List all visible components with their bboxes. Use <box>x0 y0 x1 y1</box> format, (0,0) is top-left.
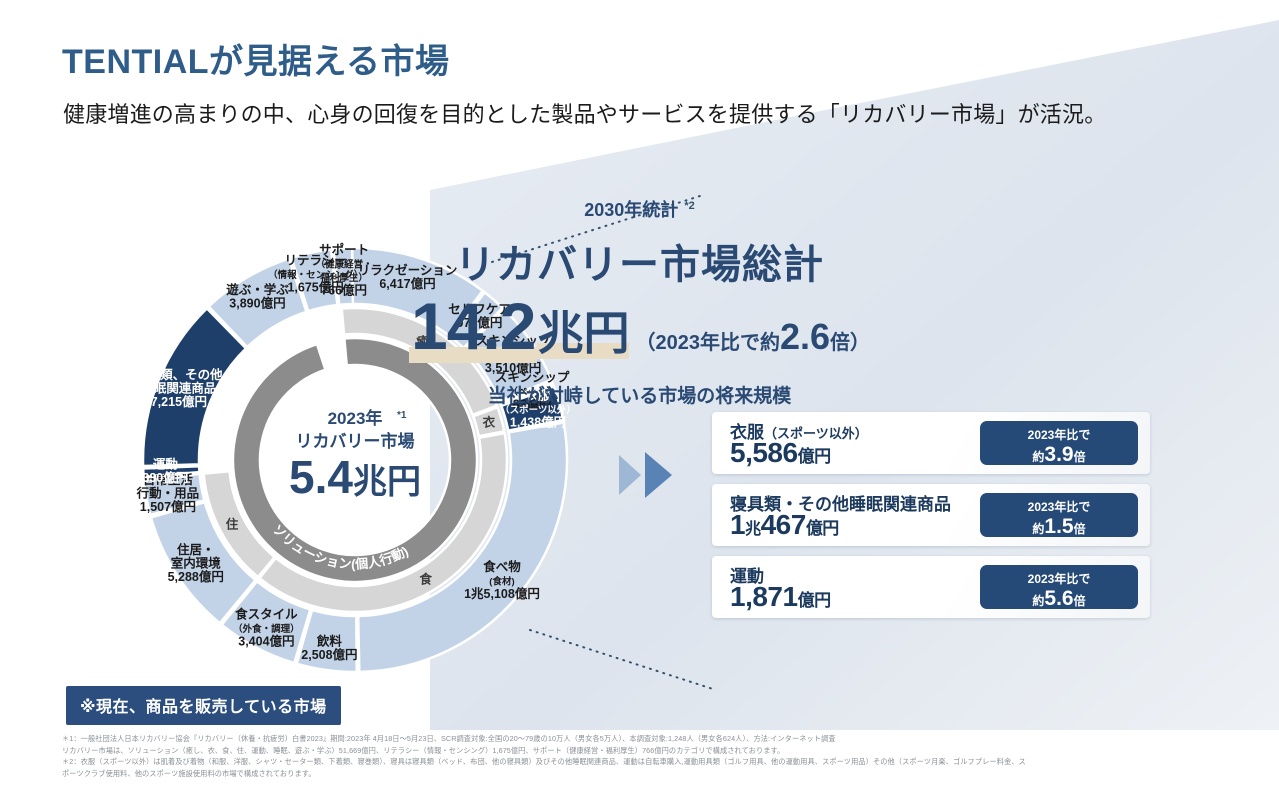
slide-root: TENTIALが見据える市場 健康増進の高まりの中、心身の回復を目的とした製品や… <box>0 0 1279 796</box>
svg-text:住居・: 住居・ <box>177 542 215 557</box>
svg-text:1,507億円: 1,507億円 <box>140 499 196 514</box>
footnote-line-3: ＊2：衣服（スポーツ以外）は肌着及び着物（和服、洋服、シャツ・セーター類、下着類… <box>62 756 1222 768</box>
card-value: 1,871億円 <box>730 582 831 613</box>
mid-ring-label-食: 食 <box>419 572 433 587</box>
comparison-prefix: （2023年比で約 <box>635 332 780 354</box>
donut-center-label: リカバリー市場 <box>296 431 415 451</box>
mid-ring-label-衣: 衣 <box>483 415 496 430</box>
market-size-card[interactable]: 運動1,871億円2023年比で約5.6倍 <box>712 556 1150 618</box>
svg-text:(食材): (食材) <box>489 575 514 587</box>
stat-year-label: 2030年統計*2 <box>0 196 1279 222</box>
page-title: TENTIALが見据える市場 <box>62 34 450 83</box>
card-growth-badge: 2023年比で約1.5倍 <box>980 493 1138 537</box>
target-market-subheading: 当社が対峙している市場の将来規模 <box>0 381 1279 408</box>
comparison-unit: 倍 <box>830 332 850 354</box>
footnotes: ＊1：一般社団法人日本リカバリー協会『リカバリー（休養・抗疲労）白書2023』期… <box>62 733 1222 780</box>
stat-year-footnote-ref: *2 <box>684 200 694 212</box>
mid-ring-label-住: 住 <box>226 517 239 532</box>
card-growth-badge: 2023年比で約3.9倍 <box>980 421 1138 465</box>
comparison-number: 2.6 <box>780 316 830 357</box>
svg-text:室内環境: 室内環境 <box>171 556 222 571</box>
badge-baseline-label: 2023年比で <box>980 498 1138 515</box>
card-value-unit: 億円 <box>806 519 839 538</box>
market-total-value-row: 14.2兆円（2023年比で約2.6倍） <box>0 288 1279 364</box>
svg-text:5,288億円: 5,288億円 <box>168 569 224 584</box>
svg-text:食べ物: 食べ物 <box>482 559 521 574</box>
legend-badge: ※現在、商品を販売している市場 <box>66 686 341 725</box>
svg-text:寝具類、その他: 寝具類、その他 <box>135 367 223 382</box>
card-value: 1兆467億円 <box>730 510 839 541</box>
badge-baseline-label: 2023年比で <box>980 426 1138 443</box>
badge-multiplier: 約3.9倍 <box>980 443 1138 467</box>
card-value-unit: 億円 <box>798 591 831 610</box>
svg-text:3,404億円: 3,404億円 <box>238 634 294 649</box>
svg-text:330億円: 330億円 <box>142 470 188 485</box>
market-total-unit: 兆円 <box>537 307 629 359</box>
card-value-unit: 億円 <box>798 447 831 466</box>
donut-center-year: 2023年 <box>328 408 383 428</box>
svg-text:飲料: 飲料 <box>316 634 343 649</box>
comparison-suffix: ） <box>850 332 870 354</box>
svg-text:食スタイル: 食スタイル <box>234 607 298 622</box>
market-total-heading: リカバリー市場総計 <box>0 232 1279 290</box>
footnote-line-2: リカバリー市場は、ソリューション（癒し、衣、食、住、運動、睡眠、遊ぶ・学ぶ）51… <box>62 745 1222 757</box>
market-size-card[interactable]: 寝具類・その他睡眠関連商品1兆467億円2023年比で約1.5倍 <box>712 484 1150 546</box>
market-total-comparison: （2023年比で約2.6倍） <box>635 328 870 355</box>
card-growth-badge: 2023年比で約5.6倍 <box>980 565 1138 609</box>
badge-multiplier: 約5.6倍 <box>980 587 1138 611</box>
market-size-card[interactable]: 衣服（スポーツ以外）5,586億円2023年比で約3.9倍 <box>712 412 1150 474</box>
market-size-card-list: 衣服（スポーツ以外）5,586億円2023年比で約3.9倍寝具類・その他睡眠関連… <box>712 412 1150 628</box>
inner-ring-solution <box>233 338 477 582</box>
badge-multiplier: 約1.5倍 <box>980 515 1138 539</box>
badge-baseline-label: 2023年比で <box>980 570 1138 587</box>
footnote-line-4: ポーツクラブ使用料、他のスポーツ施設使用料の市場で構成されております。 <box>62 768 1222 780</box>
market-total-number: 14.2 <box>409 289 537 363</box>
donut-center-value: 5.4兆円 <box>289 451 421 503</box>
donut-center-footnote-ref: *1 <box>397 410 407 421</box>
svg-text:運動: 運動 <box>153 456 178 471</box>
svg-text:1兆5,108億円: 1兆5,108億円 <box>464 586 540 601</box>
stat-year-text: 2030年統計 <box>584 200 678 220</box>
donut-segment-label: 食スタイル（外食・調理）3,404億円 <box>233 607 300 649</box>
svg-text:2,508億円: 2,508億円 <box>301 647 357 662</box>
page-subtitle: 健康増進の高まりの中、心身の回復を目的とした製品やサービスを提供する「リカバリー… <box>63 97 1106 129</box>
card-value: 5,586億円 <box>730 438 831 469</box>
svg-text:行動・用品: 行動・用品 <box>136 485 200 500</box>
svg-text:1,438億円: 1,438億円 <box>510 414 566 429</box>
footnote-line-1: ＊1：一般社団法人日本リカバリー協会『リカバリー（休養・抗疲労）白書2023』期… <box>62 733 1222 745</box>
svg-text:（外食・調理）: （外食・調理） <box>233 623 300 635</box>
